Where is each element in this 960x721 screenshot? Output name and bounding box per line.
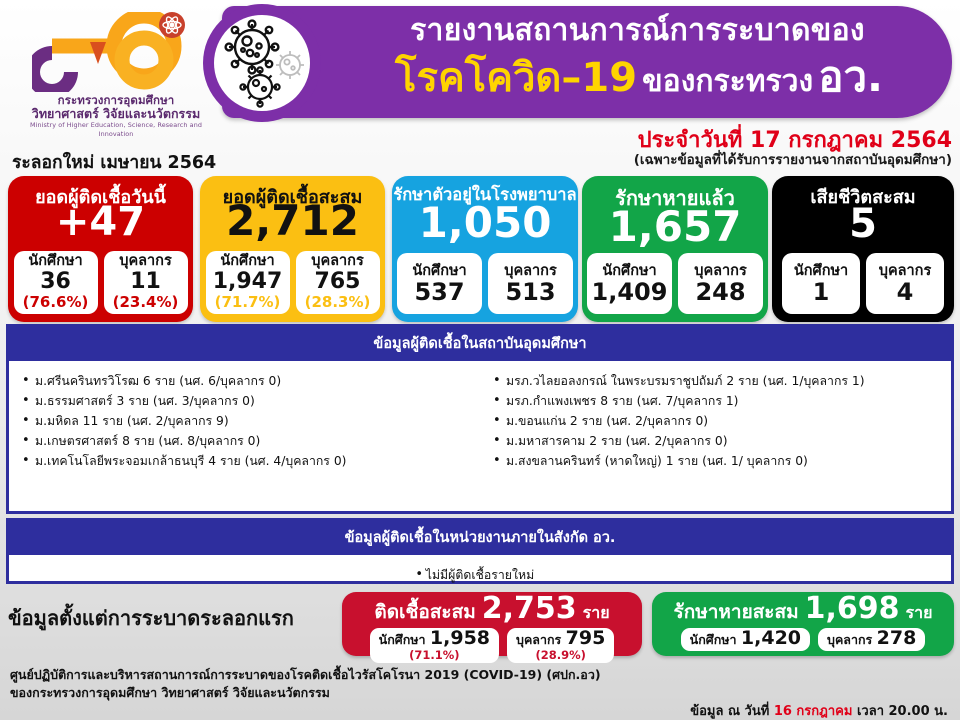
sub-value: 513 [488,280,573,304]
cum-recovered-staff: บุคลากร 278 [818,628,925,651]
list-item: ม.มหิดล 11 ราย (นศ. 2/บุคลากร 9) [35,411,480,431]
sub-value: 795 [566,627,606,649]
sub-label: นักศึกษา [587,263,672,280]
logo-line-2: วิทยาศาสตร์ วิจัยและนวัตกรรม [18,107,214,121]
cum-recovered-unit: ราย [906,601,933,626]
footer-line-2: ของกระทรวงการอุดมศึกษา วิทยาศาสตร์ วิจัย… [10,683,330,703]
stat-cards: ยอดผู้ติดเชื้อวันนี้ +47 นักศึกษา 36 (76… [0,176,960,324]
sub-label: บุคลากร [678,263,763,280]
report-title-line1: รายงานสถานการณ์การระบาดของ [330,14,945,48]
stat-card-today: ยอดผู้ติดเชื้อวันนี้ +47 นักศึกษา 36 (76… [8,176,193,322]
sub-students: นักศึกษา 1,947 (71.7%) [206,251,290,314]
stat-card-recovered: รักษาหายแล้ว 1,657 นักศึกษา 1,409 บุคลาก… [582,176,768,322]
sub-staff: บุคลากร 248 [678,253,763,314]
sub-percent: (28.3%) [296,294,380,311]
cum-recovered-label: รักษาหายสะสม [673,597,798,627]
card-value: 2,712 [200,200,385,242]
list-item: ไม่มีผู้ติดเชื้อรายใหม่ [426,565,534,585]
sub-value: 278 [877,627,917,649]
sub-percent: (23.4%) [104,294,188,311]
panel-heading: ข้อมูลผู้ติดเชื้อในหน่วยงานภายในสังกัด อ… [9,521,951,555]
ministry-abbr: อว. [818,52,883,101]
of-ministry-text: ของกระทรวง [642,64,813,99]
footer: ศูนย์ปฏิบัติการและบริหารสถานการณ์การระบา… [0,662,960,720]
card-value: +47 [8,202,193,242]
list-item: ม.ศรีนครินทรวิโรฒ 6 ราย (นศ. 6/บุคลากร 0… [35,371,480,391]
stat-card-hospital: รักษาตัวอยู่ในโรงพยาบาล 1,050 นักศึกษา 5… [392,176,578,322]
sub-value: 1,409 [587,280,672,304]
cum-infected-label: ติดเชื้อสะสม [374,597,475,627]
sub-staff: บุคลากร 513 [488,253,573,314]
universities-left-column: ม.ศรีนครินทรวิโรฒ 6 ราย (นศ. 6/บุคลากร 0… [9,371,480,471]
cum-infected-unit: ราย [583,601,610,626]
sub-percent: (76.6%) [14,294,98,311]
sub-students: นักศึกษา 36 (76.6%) [14,251,98,314]
cumulative-label: ข้อมูลตั้งแต่การระบาดระลอกแรก [8,602,294,634]
sub-value: 1,958 [430,627,490,649]
sub-students: นักศึกษา 1,409 [587,253,672,314]
sub-value: 4 [866,280,944,304]
agency-list: ไม่มีผู้ติดเชื้อรายใหม่ [9,555,951,585]
timestamp-date: 16 กรกฎาคม [774,704,853,719]
sub-label: บุคลากร [866,263,944,280]
cum-recovered-value: 1,698 [805,594,900,624]
sub-value: 765 [296,270,380,294]
sub-staff: บุคลากร 765 (28.3%) [296,251,380,314]
sub-label: บุคลากร [488,263,573,280]
panel-heading: ข้อมูลผู้ติดเชื้อในสถาบันอุดมศึกษา [9,327,951,361]
sub-value: 1,420 [741,627,801,649]
sub-label: นักศึกษา [397,263,482,280]
cum-recovered-students: นักศึกษา 1,420 [681,628,810,651]
sub-label: นักศึกษา [379,632,426,647]
list-item: มรภ.กำแพงเพชร 8 ราย (นศ. 7/บุคลากร 1) [506,391,951,411]
sub-label: บุคลากร [516,632,561,647]
footer-data-timestamp: ข้อมูล ณ วันที่ 16 กรกฎาคม เวลา 20.00 น. [690,700,948,721]
sub-label: นักศึกษา [206,253,290,270]
cum-infected-staff: บุคลากร 795 (28.9%) [507,628,614,663]
sub-students: นักศึกษา 1 [782,253,860,314]
sub-value: 11 [104,270,188,294]
sub-label: บุคลากร [827,632,872,647]
cumulative-recovered-card: รักษาหายสะสม 1,698 ราย นักศึกษา 1,420 บุ… [652,592,954,656]
sub-label: บุคลากร [296,253,380,270]
mhesi-ow-logo [32,12,192,92]
sub-percent: (71.1%) [379,649,490,661]
sub-label: นักศึกษา [14,253,98,270]
timestamp-prefix: ข้อมูล ณ วันที่ [690,704,774,719]
sub-percent: (71.7%) [206,294,290,311]
sub-value: 36 [14,270,98,294]
report-title-line2: โรคโควิด–19 ของกระทรวง อว. [330,52,948,111]
universities-panel: ข้อมูลผู้ติดเชื้อในสถาบันอุดมศึกษา ม.ศรี… [6,324,954,514]
list-item: มรภ.วไลยอลงกรณ์ ในพระบรมราชูปถัมภ์ 2 ราย… [506,371,951,391]
list-item: ม.ธรรมศาสตร์ 3 ราย (นศ. 3/บุคลากร 0) [35,391,480,411]
ministry-logo-text: กระทรวงการอุดมศึกษา วิทยาศาสตร์ วิจัยและ… [18,94,214,139]
cum-infected-value: 2,753 [482,594,577,624]
list-item: ม.มหาสารคาม 2 ราย (นศ. 2/บุคลากร 0) [506,431,951,451]
header: กระทรวงการอุดมศึกษา วิทยาศาสตร์ วิจัยและ… [0,0,960,132]
agency-panel: ข้อมูลผู้ติดเชื้อในหน่วยงานภายในสังกัด อ… [6,518,954,584]
list-item: ม.ขอนแก่น 2 ราย (นศ. 2/บุคลากร 0) [506,411,951,431]
footer-line-1: ศูนย์ปฏิบัติการและบริหารสถานการณ์การระบา… [10,665,601,685]
sub-staff: บุคลากร 4 [866,253,944,314]
sub-value: 1,947 [206,270,290,294]
sub-label: บุคลากร [104,253,188,270]
stat-card-total: ยอดผู้ติดเชื้อสะสม 2,712 นักศึกษา 1,947 … [200,176,385,322]
card-value: 5 [772,204,954,244]
logo-line-3: Ministry of Higher Education, Science, R… [18,121,214,139]
cum-infected-students: นักศึกษา 1,958 (71.1%) [370,628,499,663]
card-value: 1,657 [582,206,768,248]
sub-students: นักศึกษา 537 [397,253,482,314]
disease-name: โรคโควิด–19 [395,55,637,101]
timestamp-suffix: เวลา 20.00 น. [852,704,948,719]
sub-value: 1 [782,280,860,304]
wave-label: ระลอกใหม่ เมษายน 2564 [12,148,216,176]
sub-value: 537 [397,280,482,304]
ministry-logo: กระทรวงการอุดมศึกษา วิทยาศาสตร์ วิจัยและ… [18,8,214,132]
list-item: ม.เทคโนโลยีพระจอมเกล้าธนบุรี 4 ราย (นศ. … [35,451,480,471]
sub-staff: บุคลากร 11 (23.4%) [104,251,188,314]
sub-label: นักศึกษา [782,263,860,280]
universities-right-column: มรภ.วไลยอลงกรณ์ ในพระบรมราชูปถัมภ์ 2 ราย… [480,371,951,471]
cumulative-row: ข้อมูลตั้งแต่การระบาดระลอกแรก ติดเชื้อสะ… [0,592,960,660]
stat-card-deaths: เสียชีวิตสะสม 5 นักศึกษา 1 บุคลากร 4 [772,176,954,322]
list-item: ม.สงขลานครินทร์ (หาดใหญ่) 1 ราย (นศ. 1/ … [506,451,951,471]
sub-label: นักศึกษา [690,632,737,647]
sub-percent: (28.9%) [516,649,605,661]
report-date-note: (เฉพาะข้อมูลที่ได้รับการรายงานจากสถาบันอ… [420,148,952,170]
list-item: ม.เกษตรศาสตร์ 8 ราย (นศ. 8/บุคลากร 0) [35,431,480,451]
card-value: 1,050 [392,202,578,244]
cumulative-infected-card: ติดเชื้อสะสม 2,753 ราย นักศึกษา 1,958 (7… [342,592,642,656]
coronavirus-icon [203,4,321,122]
sub-value: 248 [678,280,763,304]
